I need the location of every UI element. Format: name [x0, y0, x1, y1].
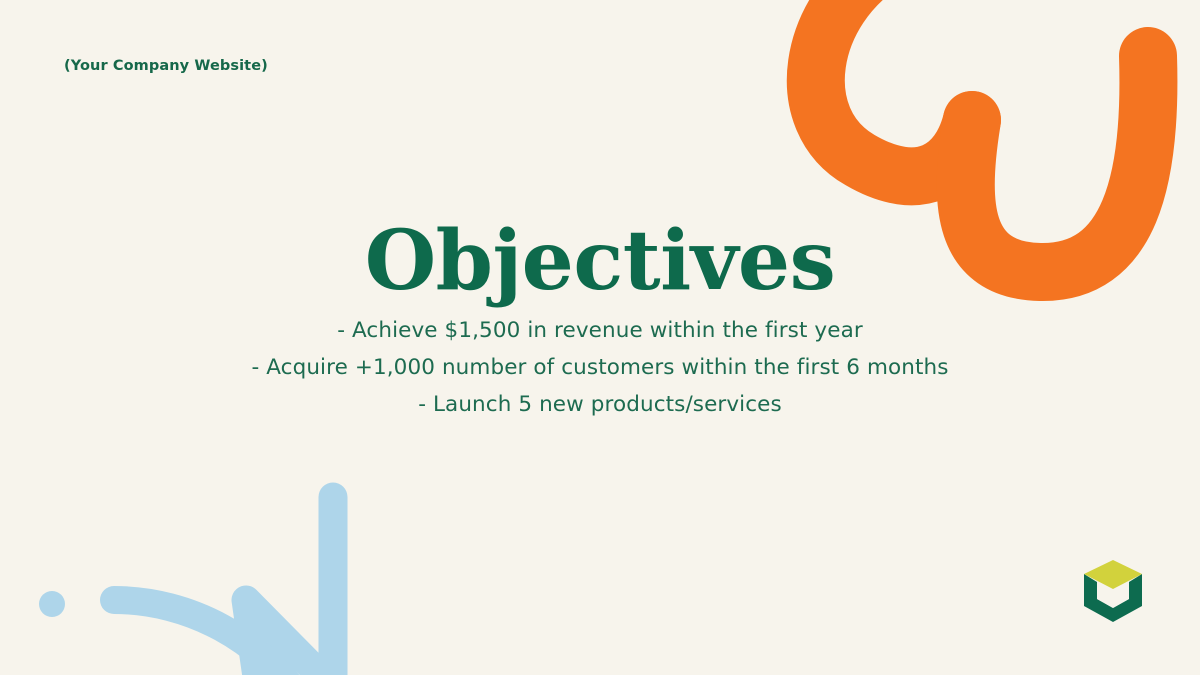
objectives-list: - Achieve $1,500 in revenue within the f…	[0, 312, 1200, 423]
blue-squiggle-decoration	[114, 497, 333, 675]
list-item: - Acquire +1,000 number of customers wit…	[0, 349, 1200, 386]
cube-logo-icon	[1081, 559, 1145, 623]
list-item: - Achieve $1,500 in revenue within the f…	[0, 312, 1200, 349]
company-website-label: (Your Company Website)	[64, 58, 268, 74]
blue-dot-decoration	[39, 591, 65, 617]
page-title: Objectives	[0, 220, 1200, 302]
presentation-slide: (Your Company Website) Objectives - Achi…	[0, 0, 1200, 675]
list-item: - Launch 5 new products/services	[0, 386, 1200, 423]
